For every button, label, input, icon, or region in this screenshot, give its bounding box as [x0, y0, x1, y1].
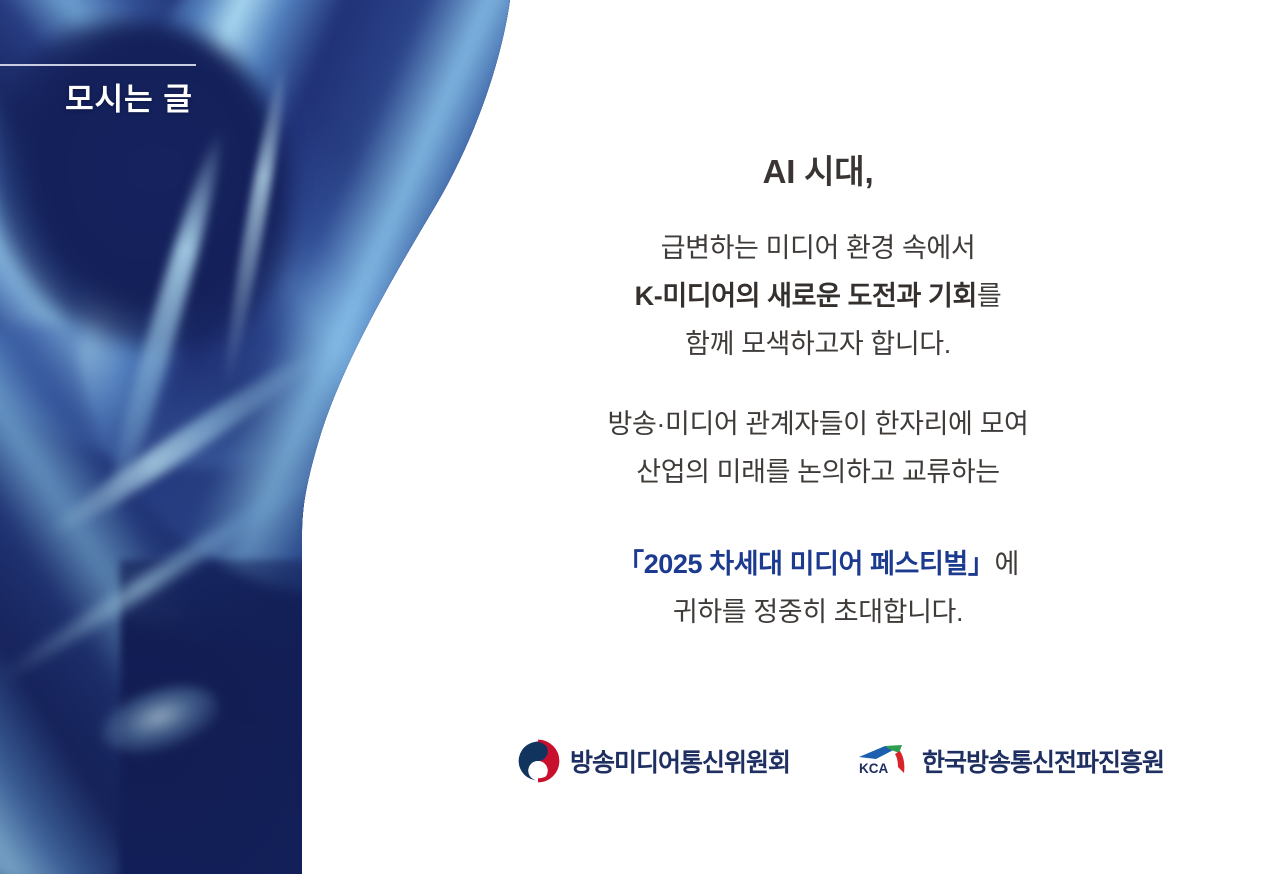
headline: AI 시대, — [520, 145, 1116, 193]
korea-government-taegeuk-symbol — [516, 739, 560, 783]
paragraph-1-line-3: 함께 모색하고자 합니다. — [520, 320, 1116, 368]
logo-kca-label: 한국방송통신전파진흥원 — [922, 743, 1164, 779]
paragraph-3-line-1: 「2025 차세대 미디어 페스티벌」에 — [520, 540, 1116, 588]
paragraph-1-line-2-tail: 를 — [977, 281, 1001, 311]
bracket-open: 「 — [617, 549, 644, 579]
event-name: 2025 차세대 미디어 페스티벌 — [644, 549, 968, 579]
panel-divider-line — [0, 64, 196, 66]
paragraph-2-line-1: 방송·미디어 관계자들이 한자리에 모여 — [520, 400, 1116, 448]
invitation-slide: 모시는 글 AI 시대, 급변하는 미디어 환경 속에서 K-미디어의 새로운 … — [0, 0, 1280, 874]
paragraph-1-line-2-bold: K-미디어의 새로운 도전과 기회 — [635, 281, 977, 311]
logo-kca: KCA 한국방송통신전파진흥원 — [856, 742, 1164, 780]
paragraph-2-line-2: 산업의 미래를 논의하고 교류하는 — [520, 448, 1116, 496]
artwork-vignette — [0, 0, 520, 874]
invitation-paragraph-1: 급변하는 미디어 환경 속에서 K-미디어의 새로운 도전과 기회를 함께 모색… — [520, 224, 1116, 368]
invitation-content: AI 시대, 급변하는 미디어 환경 속에서 K-미디어의 새로운 도전과 기회… — [520, 0, 1280, 874]
paragraph-1-line-1: 급변하는 미디어 환경 속에서 — [520, 224, 1116, 272]
kca-abbreviation-text: KCA — [859, 761, 888, 776]
bracket-close: 」 — [968, 549, 995, 579]
kca-lockup: KCA — [856, 742, 912, 780]
panel-title: 모시는 글 — [0, 80, 258, 120]
organizer-logo-row: 방송미디어통신위원회 KCA 한국방송통신전파진흥원 — [520, 726, 1160, 796]
left-artwork-panel: 모시는 글 — [0, 0, 520, 874]
kca-swoosh-symbol: KCA — [856, 742, 912, 780]
paragraph-1-line-2: K-미디어의 새로운 도전과 기회를 — [520, 272, 1116, 320]
invitation-paragraph-3: 「2025 차세대 미디어 페스티벌」에 귀하를 정중히 초대합니다. — [520, 540, 1116, 636]
abstract-blue-ribbon-image — [0, 0, 520, 874]
paragraph-3-line-2: 귀하를 정중히 초대합니다. — [520, 588, 1116, 636]
paragraph-3-line-1-tail: 에 — [994, 549, 1018, 579]
logo-kcc-label: 방송미디어통신위원회 — [570, 743, 790, 779]
invitation-paragraph-2: 방송·미디어 관계자들이 한자리에 모여 산업의 미래를 논의하고 교류하는 — [520, 400, 1116, 496]
logo-kcc: 방송미디어통신위원회 — [516, 739, 790, 783]
